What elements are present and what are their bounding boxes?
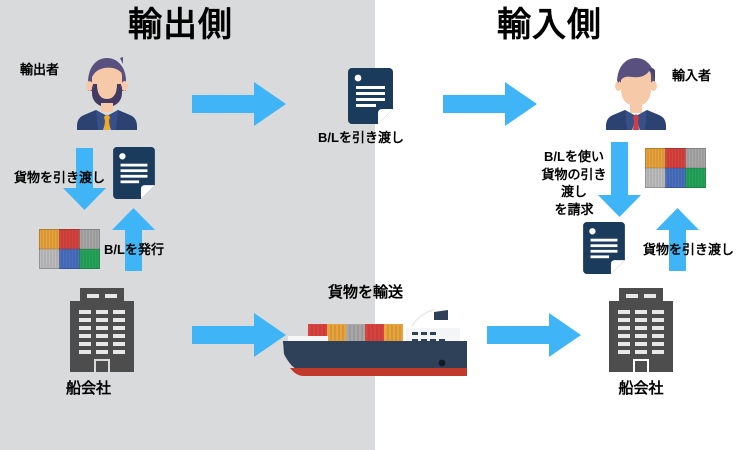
issue-bl-label: B/Lを発行	[104, 242, 164, 258]
office-building-icon	[605, 288, 677, 372]
shipping-company-label-left: 船会社	[66, 380, 138, 399]
shipping-containers-icon	[39, 229, 100, 269]
exporter-avatar	[76, 55, 138, 130]
import-side-title: 輸入側	[497, 8, 602, 42]
businessman-icon	[605, 55, 667, 130]
bl-document-right	[583, 222, 625, 274]
container-ship	[282, 306, 467, 384]
shipping-company-label-right: 船会社	[605, 380, 677, 399]
arrow-issue-bl	[112, 208, 155, 271]
handover-bl-label: B/Lを引き渡し	[318, 130, 404, 146]
arrow-up-icon	[112, 208, 155, 271]
arrow-deliver-cargo-right	[656, 208, 699, 271]
arrow-right-icon	[192, 313, 286, 357]
arrow-right-icon	[443, 82, 537, 126]
request-delivery-line-1: B/Lを使い	[544, 149, 604, 164]
bill-of-lading-document-icon	[113, 147, 155, 199]
shipping-company-building-left	[66, 288, 138, 372]
bl-document-center	[348, 68, 393, 124]
arrow-bl-to-importer	[443, 82, 537, 126]
bill-of-lading-document-icon	[583, 222, 625, 274]
deliver-cargo-label-right: 貨物を引き渡し	[643, 242, 734, 258]
office-building-icon	[66, 288, 138, 372]
containers-left	[39, 229, 100, 269]
shipping-containers-icon	[645, 148, 706, 188]
importer-label: 輸入者	[672, 68, 711, 84]
transport-cargo-label: 貨物を輸送	[328, 284, 403, 303]
arrow-up-icon	[656, 208, 699, 271]
containers-right	[645, 148, 706, 188]
deliver-cargo-label-left: 貨物を引き渡し	[14, 170, 105, 186]
importer-avatar	[605, 55, 667, 130]
request-delivery-label: B/Lを使い 貨物の引き渡し を請求	[539, 148, 609, 218]
arrow-exporter-to-bl	[192, 82, 286, 126]
diagram-canvas: 輸出側 輸入側	[0, 0, 750, 450]
arrow-building-to-ship	[192, 313, 286, 357]
exporter-label: 輸出者	[20, 62, 59, 78]
businessman-bearded-icon	[76, 55, 138, 130]
shipping-company-building-right	[605, 288, 677, 372]
arrow-right-icon	[487, 313, 581, 357]
request-delivery-line-3: を請求	[554, 202, 593, 217]
bl-document-left	[113, 147, 155, 199]
bill-of-lading-document-icon	[348, 68, 393, 124]
request-delivery-line-2: 貨物の引き渡し	[541, 167, 606, 200]
arrow-right-icon	[192, 82, 286, 126]
export-side-title: 輸出側	[128, 8, 233, 42]
container-ship-icon	[282, 306, 467, 384]
arrow-ship-to-building-right	[487, 313, 581, 357]
